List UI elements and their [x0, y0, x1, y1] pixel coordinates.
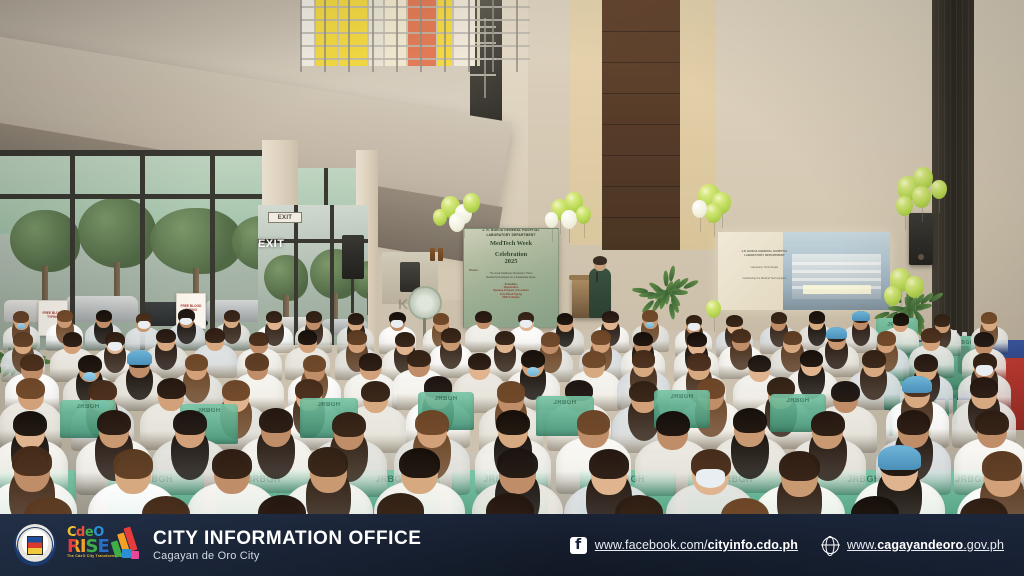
- audience-hair: [415, 410, 449, 435]
- railing-rail: [300, 19, 530, 21]
- surgical-cap-icon: [878, 445, 920, 470]
- screenshot-root: EXIT EXIT J. R. BORJA GENERAL HOSPITAL L…: [0, 0, 1024, 576]
- audience-hair: [862, 350, 886, 368]
- audience-hair: [332, 412, 366, 437]
- globe-icon: [822, 537, 839, 554]
- railing-rail: [300, 45, 530, 47]
- audience-hair: [970, 377, 998, 398]
- column-seam: [956, 0, 957, 340]
- footer-bar: CdeO RISE The CdeO City Transformation C…: [0, 514, 1024, 576]
- audience-hair: [306, 311, 323, 323]
- audience-hair: [914, 354, 938, 372]
- chair-stencil: JRBGH: [317, 402, 340, 408]
- footer-title-block: CITY INFORMATION OFFICE Cagayan de Oro C…: [153, 528, 421, 563]
- bottle: [430, 248, 435, 261]
- railing-post: [396, 0, 398, 72]
- mezzanine-railing: [300, 0, 530, 72]
- seal-ring: [17, 527, 53, 563]
- audience-hair: [642, 310, 659, 322]
- balloon-string: [569, 229, 570, 243]
- audience-hair: [632, 350, 656, 368]
- audience-hair: [497, 381, 525, 402]
- audience-hair: [361, 381, 389, 402]
- audience-hair: [13, 332, 33, 347]
- plant-leaf: [672, 290, 688, 295]
- audience-hair: [974, 332, 994, 347]
- wood-wall-panel: [602, 0, 680, 250]
- office-name: CITY INFORMATION OFFICE: [153, 528, 421, 550]
- balloon-string: [922, 208, 923, 222]
- audience-hair: [934, 314, 951, 326]
- audience-hair: [157, 378, 185, 399]
- surgical-cap-icon: [826, 327, 847, 339]
- railing-post: [516, 0, 518, 72]
- audience-hair: [156, 329, 176, 344]
- railing-post: [348, 0, 350, 72]
- balloon-string: [915, 298, 916, 312]
- audience-hair: [475, 311, 492, 323]
- banner-year: 2025: [464, 258, 558, 265]
- audience-hair: [12, 446, 52, 476]
- face-mask: [520, 320, 532, 327]
- audience-hair: [577, 410, 611, 435]
- audience-hair: [831, 381, 859, 402]
- audience-hair: [541, 332, 561, 347]
- tree: [150, 208, 242, 274]
- slide-building-floor: [792, 262, 882, 265]
- balloon-string: [722, 214, 723, 228]
- audience-hair: [298, 330, 318, 345]
- audience-hair: [224, 310, 241, 322]
- logo-chevron: [131, 551, 139, 559]
- audience-hair: [557, 313, 574, 325]
- slide-building-sign: [803, 285, 871, 294]
- audience-hair: [295, 379, 323, 400]
- audience-hair: [602, 311, 619, 323]
- slide-line-3: Laboratory Technologist: [727, 266, 803, 270]
- audience-hair: [811, 411, 845, 436]
- chair-stencil: JRBGH: [786, 398, 809, 404]
- railing-post: [324, 0, 326, 72]
- audience-hair: [212, 449, 252, 479]
- audience-hair: [96, 310, 113, 322]
- audience-hair: [441, 328, 461, 343]
- audience-hair: [16, 378, 44, 399]
- railing-post: [444, 0, 446, 72]
- presenter-hair: [593, 256, 607, 265]
- audience-hair: [205, 328, 225, 343]
- projection-screen: J.R. BORJA GENERAL HOSPITAL LABORATORY D…: [718, 232, 890, 310]
- audience-hair: [656, 411, 690, 436]
- audience-hair: [877, 331, 897, 346]
- balloon-string: [440, 226, 441, 240]
- audience-hair: [921, 328, 941, 343]
- railing-rail: [300, 32, 530, 34]
- audience-hair: [589, 449, 629, 479]
- audience-hair: [897, 410, 931, 435]
- audience-hair: [779, 451, 819, 481]
- microphone-stand: [596, 272, 598, 282]
- audience-hair: [748, 355, 772, 373]
- audience-hair: [981, 312, 998, 324]
- hair-scrunchie: [646, 322, 655, 328]
- city-seal-icon: [14, 524, 56, 566]
- wood-seam: [602, 124, 680, 125]
- facebook-url: www.facebook.com/cityinfo.cdo.ph: [595, 538, 798, 552]
- audience-hair: [13, 311, 30, 323]
- window-mullion: [0, 194, 280, 199]
- banner-title-line-1: MedTech Week: [464, 240, 558, 248]
- footer-logos: CdeO RISE The CdeO City Transformation: [0, 524, 139, 566]
- slide-building-floor: [792, 270, 882, 273]
- audience-hair: [347, 330, 367, 345]
- audience-hair: [582, 351, 606, 369]
- slide-line-2: LABORATORY DEPARTMENT: [727, 253, 803, 257]
- wood-seam: [602, 217, 680, 218]
- wood-seam: [602, 155, 680, 156]
- chair-stencil: JRBGH: [553, 400, 576, 406]
- audience-hair: [687, 332, 707, 347]
- audience-hair: [173, 410, 207, 435]
- audience-hair: [13, 411, 47, 436]
- slide-line-4: Celebrating the Medical Technologists: [727, 277, 803, 281]
- audience-hair: [809, 311, 826, 323]
- chair-stencil: JRBGH: [434, 396, 457, 402]
- chair-stencil: JRBGH: [670, 394, 693, 400]
- audience-hair: [185, 354, 209, 372]
- banner-org-line-2: LABORATORY DEPARTMENT: [464, 232, 558, 237]
- audience-hair: [982, 451, 1022, 481]
- column-seam: [968, 0, 969, 340]
- rise-logo-chevrons: [113, 527, 139, 561]
- audience-hair: [78, 355, 102, 373]
- audience-hair: [893, 313, 910, 325]
- audience-hair: [259, 408, 293, 433]
- column-seam: [962, 0, 963, 340]
- audience-hair: [399, 448, 439, 478]
- balloon-string: [905, 216, 906, 230]
- audience-hair: [249, 332, 269, 347]
- audience-hair: [496, 410, 530, 435]
- column-seam: [950, 0, 951, 340]
- face-mask: [696, 469, 725, 487]
- audience-hair: [495, 331, 515, 346]
- audience-hair: [687, 353, 711, 371]
- audience-hair: [591, 330, 611, 345]
- window-mullion: [0, 150, 280, 156]
- balloon-string: [584, 224, 585, 238]
- audience-hair: [308, 447, 348, 477]
- room-sign: EXIT: [268, 212, 302, 223]
- balloon-string: [700, 218, 701, 232]
- facebook-link[interactable]: www.facebook.com/cityinfo.cdo.ph: [570, 537, 798, 554]
- railing-rail: [300, 6, 530, 8]
- plant-leaf: [668, 266, 676, 283]
- banner-schedule-line-4: 2025 Activities: [464, 296, 558, 300]
- footer-links: www.facebook.com/cityinfo.cdo.ph www.cag…: [570, 537, 1024, 554]
- exit-sign: EXIT: [258, 238, 284, 250]
- event-photograph: EXIT EXIT J. R. BORJA GENERAL HOSPITAL L…: [0, 0, 1024, 576]
- slide-text: J.R. BORJA GENERAL HOSPITAL LABORATORY D…: [727, 249, 803, 280]
- audience-hair: [468, 353, 492, 371]
- railing-post: [372, 0, 374, 72]
- audience-hair: [359, 353, 383, 371]
- audience-hair: [348, 313, 365, 325]
- facebook-icon: [570, 537, 587, 554]
- audience-hair: [20, 354, 44, 372]
- audience-hair: [497, 448, 537, 478]
- banner-title-line-2: Celebration: [464, 251, 558, 259]
- audience-hair: [975, 410, 1009, 435]
- audience-hair: [63, 332, 83, 347]
- surgical-cap-icon: [902, 376, 932, 394]
- audience-hair: [521, 350, 545, 368]
- banner-theme-line-2: Medical Technologists for a Sustainable …: [464, 276, 558, 279]
- audience-hair: [433, 313, 450, 325]
- balloon-string: [714, 223, 715, 237]
- bottle: [438, 248, 443, 261]
- wood-seam: [602, 62, 680, 63]
- audience-hair: [731, 329, 751, 344]
- surgical-cap-icon: [852, 311, 869, 321]
- balloon-string: [552, 228, 553, 242]
- railing-rail: [300, 58, 530, 60]
- railing-post: [468, 0, 470, 72]
- wood-seam: [602, 93, 680, 94]
- slide-building-floor: [792, 278, 882, 281]
- audience-hair: [733, 408, 767, 433]
- audience-hair: [113, 449, 153, 479]
- audience-hair: [57, 310, 74, 322]
- audience-hair: [222, 380, 250, 401]
- audience-hair: [633, 332, 653, 347]
- audience-hair: [266, 311, 283, 323]
- face-mask: [976, 365, 993, 376]
- website-link[interactable]: www.cagayandeoro.gov.ph: [822, 537, 1004, 554]
- hair-scrunchie: [527, 367, 540, 375]
- audience-hair: [783, 331, 803, 346]
- office-city: Cagayan de Oro City: [153, 550, 421, 562]
- balloon-string: [472, 213, 473, 227]
- cdeo-rise-logo: CdeO RISE The CdeO City Transformation: [65, 525, 139, 565]
- balloon-string: [457, 232, 458, 246]
- speaker-stand: [351, 279, 354, 313]
- audience-hair: [771, 312, 788, 324]
- face-mask: [688, 323, 700, 330]
- audience-hair: [97, 410, 131, 435]
- wood-seam: [602, 186, 680, 187]
- audience-hair: [800, 350, 824, 368]
- column-seam: [944, 0, 945, 340]
- audience-hair: [395, 332, 415, 347]
- face-mask: [391, 320, 403, 327]
- hair-scrunchie: [17, 323, 26, 329]
- balloon-string: [714, 318, 715, 332]
- logo-chevron: [122, 549, 131, 558]
- plant-leaf: [888, 306, 904, 311]
- railing-post: [300, 0, 302, 72]
- surgical-cap-icon: [127, 350, 152, 365]
- audience-hair: [407, 350, 431, 368]
- floor-speaker: [342, 235, 364, 279]
- audience-hair: [726, 315, 743, 327]
- wood-seam: [602, 31, 680, 32]
- railing-post: [492, 0, 494, 72]
- audience-hair: [303, 355, 327, 373]
- balloon-string: [939, 199, 940, 213]
- audience-hair: [245, 353, 269, 371]
- website-url: www.cagayandeoro.gov.ph: [847, 538, 1004, 552]
- railing-post: [420, 0, 422, 72]
- audience-hair: [88, 380, 116, 401]
